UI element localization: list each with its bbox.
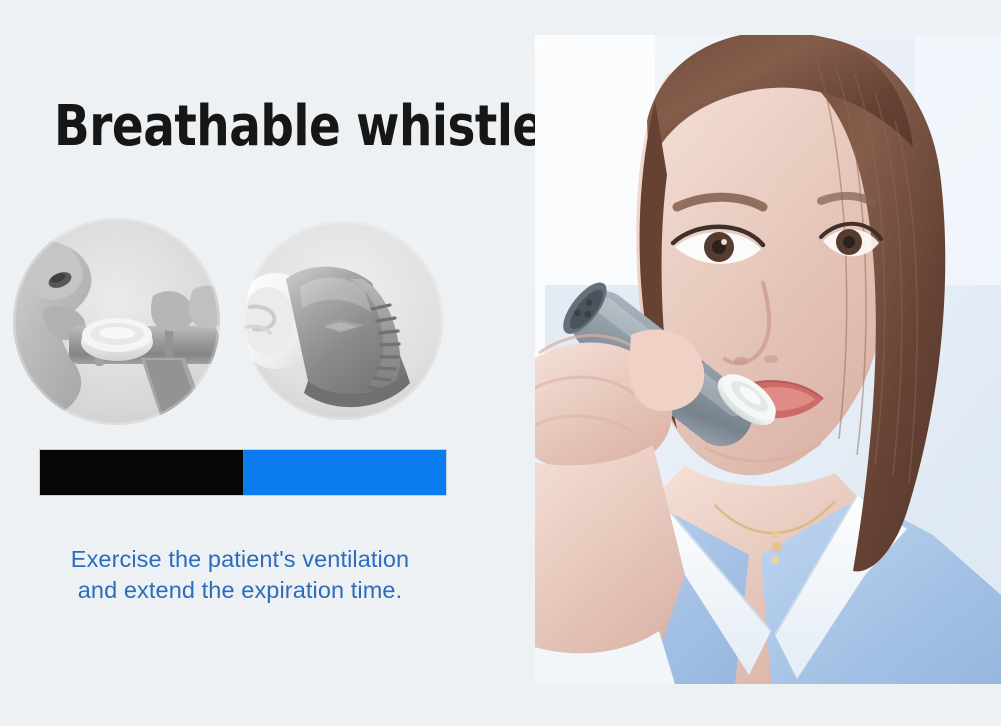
page-title: Breathable whistle: [54, 96, 544, 158]
nose-closeup-illustration: [13, 218, 220, 425]
photo-woman-using-device: [535, 35, 1001, 684]
infographic-canvas: Breathable whistle: [0, 0, 1001, 726]
caption-line-2: and extend the expiration time.: [0, 575, 480, 606]
photo-mouthpiece-closeup: [244, 221, 443, 420]
accent-bar-blue-segment: [243, 450, 446, 495]
mouthpiece-closeup-illustration: [244, 221, 443, 420]
woman-using-device-illustration: [535, 35, 1001, 684]
accent-bar-dark-segment: [40, 450, 243, 495]
accent-bar: [40, 450, 446, 495]
left-content-panel: Breathable whistle: [0, 0, 520, 726]
caption-line-1: Exercise the patient's ventilation: [0, 544, 480, 575]
photo-nose-closeup: [13, 218, 220, 425]
caption-text: Exercise the patient's ventilation and e…: [0, 544, 480, 606]
circular-photo-group: [0, 216, 520, 432]
